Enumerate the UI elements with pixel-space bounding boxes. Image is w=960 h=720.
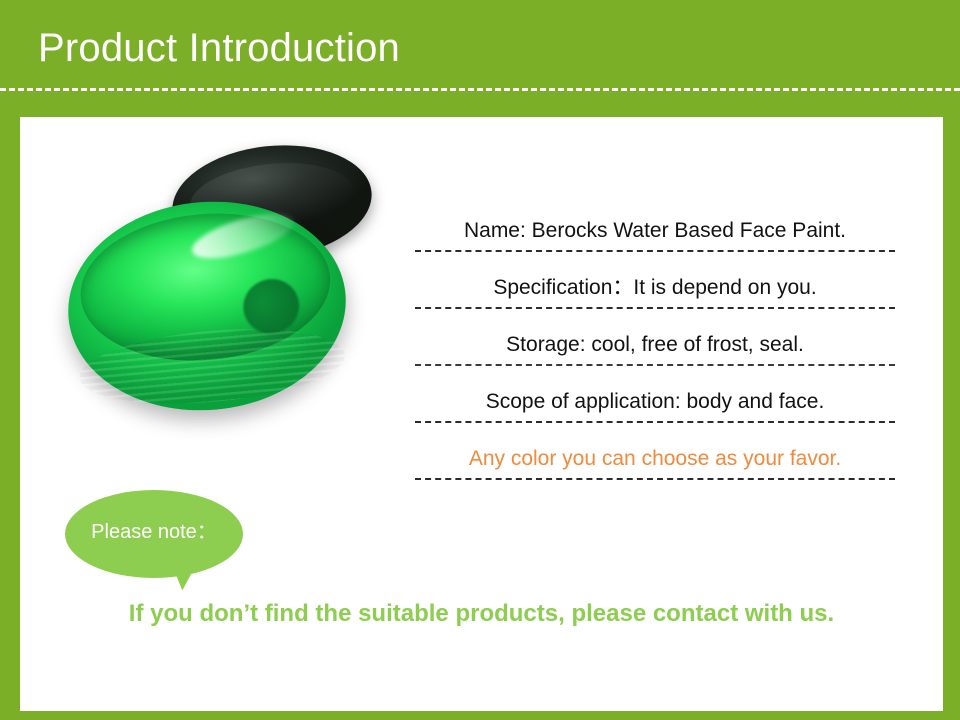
- title-divider: [0, 88, 960, 91]
- spec-text-color-note: Any color you can choose as your favor.: [415, 446, 895, 472]
- spec-row-scope: Scope of application: body and face.: [415, 366, 895, 423]
- contact-cta-text: If you don’t find the suitable products,…: [20, 600, 943, 628]
- spec-row-color-note: Any color you can choose as your favor.: [415, 423, 895, 480]
- spec-underline-color-note: [415, 478, 895, 480]
- spec-row-name: Name: Berocks Water Based Face Paint.: [415, 195, 895, 252]
- content-panel: Name: Berocks Water Based Face Paint. Sp…: [20, 117, 943, 711]
- spec-text-storage: Storage: cool, free of frost, seal.: [415, 332, 895, 358]
- spec-row-specification: Specification：It is depend on you.: [415, 252, 895, 309]
- spec-text-scope: Scope of application: body and face.: [415, 389, 895, 415]
- page-title: Product Introduction: [38, 24, 400, 72]
- spec-list: Name: Berocks Water Based Face Paint. Sp…: [415, 195, 895, 480]
- slide-canvas: Product Introduction Name: Berocks Water…: [0, 0, 960, 720]
- callout-label: Please note：: [65, 490, 243, 578]
- product-photo: [60, 132, 390, 432]
- spec-text-specification: Specification：It is depend on you.: [415, 275, 895, 301]
- spec-row-storage: Storage: cool, free of frost, seal.: [415, 309, 895, 366]
- spec-text-name: Name: Berocks Water Based Face Paint.: [415, 218, 895, 244]
- please-note-callout: Please note：: [65, 490, 243, 578]
